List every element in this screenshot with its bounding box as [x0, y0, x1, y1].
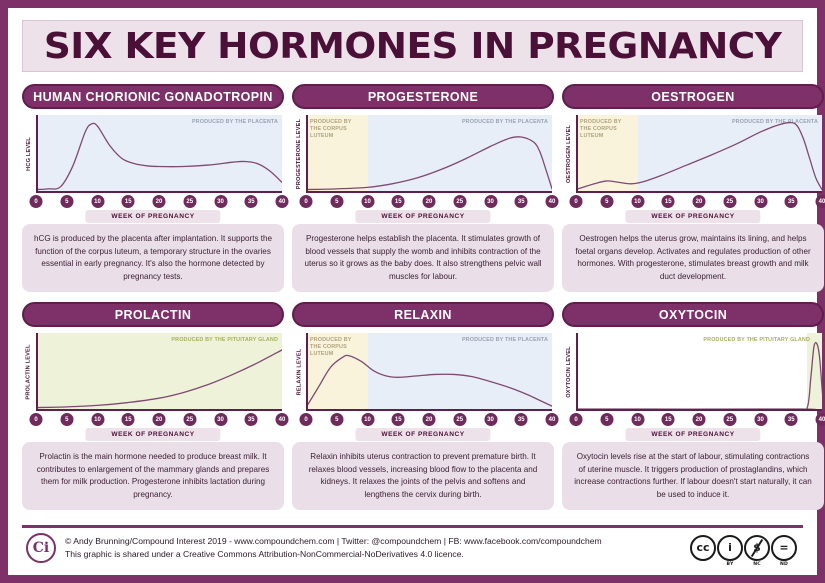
plot-area: PRODUCED BY THE CORPUS LUTEUMPRODUCED BY… [306, 115, 552, 193]
description-text: Prolactin is the main hormone needed to … [33, 451, 273, 501]
x-tick-5: 5 [60, 413, 73, 426]
footer-text: © Andy Brunning/Compound Interest 2019 -… [65, 535, 690, 560]
y-axis-label: OXYTOCIN LEVEL [563, 333, 575, 411]
x-tick-30: 30 [214, 413, 227, 426]
y-axis [306, 333, 308, 411]
cc-badge-nc-icon: $NC [744, 535, 770, 561]
y-axis [576, 333, 578, 411]
y-axis-label: RELAXIN LEVEL [293, 333, 305, 411]
x-axis-ticks: 0510152025303540 [36, 195, 282, 208]
x-axis-label: WEEK OF PREGNANCY [625, 428, 760, 441]
panel-header: RELAXIN [292, 302, 554, 327]
x-tick-20: 20 [153, 195, 166, 208]
x-axis-label: WEEK OF PREGNANCY [625, 210, 760, 223]
slash-icon [751, 538, 763, 556]
y-axis-label: HCG LEVEL [23, 115, 35, 193]
x-tick-30: 30 [754, 413, 767, 426]
x-tick-20: 20 [693, 413, 706, 426]
x-tick-20: 20 [423, 195, 436, 208]
x-axis-label: WEEK OF PREGNANCY [85, 210, 220, 223]
cc-badge-sublabel: NC [753, 562, 761, 567]
plot-area: PRODUCED BY THE PITUITARY GLAND [36, 333, 282, 411]
panel-title: PROLACTIN [115, 308, 192, 322]
x-tick-15: 15 [662, 413, 675, 426]
x-tick-25: 25 [183, 413, 196, 426]
x-axis [306, 409, 552, 411]
x-tick-0: 0 [30, 195, 43, 208]
x-tick-10: 10 [631, 413, 644, 426]
chart: OXYTOCIN LEVELPRODUCED BY THE PITUITARY … [562, 333, 824, 436]
x-tick-15: 15 [392, 195, 405, 208]
chart: PROGESTERONE LEVELPRODUCED BY THE CORPUS… [292, 115, 554, 218]
panel-title: RELAXIN [394, 308, 452, 322]
panel-header: PROLACTIN [22, 302, 284, 327]
x-tick-20: 20 [693, 195, 706, 208]
creative-commons-icons: cciBY$NC=ND [690, 535, 797, 561]
x-axis-ticks: 0510152025303540 [576, 413, 822, 426]
cc-badge-cc-icon: cc [690, 535, 716, 561]
x-tick-15: 15 [392, 413, 405, 426]
x-tick-5: 5 [330, 195, 343, 208]
cc-badge-sublabel: BY [727, 562, 734, 567]
x-axis-label: WEEK OF PREGNANCY [85, 428, 220, 441]
x-tick-40: 40 [276, 195, 289, 208]
x-tick-10: 10 [361, 195, 374, 208]
data-line [306, 333, 552, 411]
plot-area: PRODUCED BY THE PLACENTA [36, 115, 282, 193]
x-tick-20: 20 [423, 413, 436, 426]
x-tick-0: 0 [570, 413, 583, 426]
data-line [36, 115, 282, 193]
panel-description: Prolactin is the main hormone needed to … [22, 442, 284, 510]
plot-area: PRODUCED BY THE CORPUS LUTEUMPRODUCED BY… [576, 115, 822, 193]
page-title: SIX KEY HORMONES IN PREGNANCY [44, 26, 782, 67]
x-tick-10: 10 [361, 413, 374, 426]
x-tick-10: 10 [91, 413, 104, 426]
x-axis [306, 191, 552, 193]
chart: OESTROGEN LEVELPRODUCED BY THE CORPUS LU… [562, 115, 824, 218]
x-axis [576, 191, 822, 193]
x-tick-0: 0 [30, 413, 43, 426]
x-axis-ticks: 0510152025303540 [306, 195, 552, 208]
data-line [36, 333, 282, 411]
hormone-panel-oestrogen: OESTROGENOESTROGEN LEVELPRODUCED BY THE … [562, 84, 824, 292]
panel-description: Progesterone helps establish the placent… [292, 224, 554, 292]
panel-grid: HUMAN CHORIONIC GONADOTROPINHCG LEVELPRO… [22, 84, 823, 519]
x-tick-30: 30 [754, 195, 767, 208]
y-axis [576, 115, 578, 193]
x-tick-5: 5 [600, 195, 613, 208]
plot-area: PRODUCED BY THE PITUITARY GLAND [576, 333, 822, 411]
description-text: Oxytocin levels rise at the start of lab… [573, 451, 813, 501]
panel-description: Oxytocin levels rise at the start of lab… [562, 442, 824, 510]
x-tick-30: 30 [214, 195, 227, 208]
x-axis-ticks: 0510152025303540 [576, 195, 822, 208]
data-line [576, 115, 822, 193]
x-tick-10: 10 [631, 195, 644, 208]
x-tick-35: 35 [245, 413, 258, 426]
x-tick-35: 35 [515, 413, 528, 426]
panel-title: PROGESTERONE [368, 90, 478, 104]
x-axis [36, 191, 282, 193]
data-line [306, 115, 552, 193]
x-tick-15: 15 [122, 195, 135, 208]
plot-area: PRODUCED BY THE CORPUS LUTEUMPRODUCED BY… [306, 333, 552, 411]
x-tick-40: 40 [816, 195, 825, 208]
chart: PROLACTIN LEVELPRODUCED BY THE PITUITARY… [22, 333, 284, 436]
compound-interest-logo-icon: Ci [26, 533, 56, 563]
x-tick-5: 5 [60, 195, 73, 208]
panel-title: HUMAN CHORIONIC GONADOTROPIN [33, 90, 273, 104]
panel-header: OXYTOCIN [562, 302, 824, 327]
x-tick-25: 25 [453, 413, 466, 426]
panel-header: OESTROGEN [562, 84, 824, 109]
footer-line-1: © Andy Brunning/Compound Interest 2019 -… [65, 535, 690, 548]
x-tick-15: 15 [122, 413, 135, 426]
x-tick-40: 40 [546, 195, 559, 208]
cc-badge-by-icon: iBY [717, 535, 743, 561]
x-axis-ticks: 0510152025303540 [306, 413, 552, 426]
chart: HCG LEVELPRODUCED BY THE PLACENTA0510152… [22, 115, 284, 218]
x-tick-40: 40 [276, 413, 289, 426]
x-tick-0: 0 [570, 195, 583, 208]
x-axis-ticks: 0510152025303540 [36, 413, 282, 426]
hormone-panel-oxytocin: OXYTOCINOXYTOCIN LEVELPRODUCED BY THE PI… [562, 302, 824, 510]
x-tick-40: 40 [546, 413, 559, 426]
x-tick-35: 35 [785, 195, 798, 208]
x-tick-30: 30 [484, 195, 497, 208]
y-axis [306, 115, 308, 193]
x-tick-30: 30 [484, 413, 497, 426]
cc-badge-sublabel: ND [780, 562, 788, 567]
x-tick-25: 25 [453, 195, 466, 208]
poster-root: SIX KEY HORMONES IN PREGNANCY HUMAN CHOR… [8, 8, 817, 575]
x-axis-label: WEEK OF PREGNANCY [355, 428, 490, 441]
hormone-panel-human-chorionic-gonadotropin: HUMAN CHORIONIC GONADOTROPINHCG LEVELPRO… [22, 84, 284, 292]
x-tick-35: 35 [785, 413, 798, 426]
footer: Ci © Andy Brunning/Compound Interest 201… [22, 525, 803, 567]
panel-description: hCG is produced by the placenta after im… [22, 224, 284, 292]
description-text: Oestrogen helps the uterus grow, maintai… [573, 233, 813, 283]
panel-description: Relaxin inhibits uterus contraction to p… [292, 442, 554, 510]
x-axis [36, 409, 282, 411]
x-tick-20: 20 [153, 413, 166, 426]
x-tick-25: 25 [723, 195, 736, 208]
x-tick-35: 35 [515, 195, 528, 208]
x-axis [576, 409, 822, 411]
y-axis [36, 333, 38, 411]
x-tick-0: 0 [300, 413, 313, 426]
hormone-panel-progesterone: PROGESTERONEPROGESTERONE LEVELPRODUCED B… [292, 84, 554, 292]
x-tick-0: 0 [300, 195, 313, 208]
x-tick-40: 40 [816, 413, 825, 426]
panel-header: HUMAN CHORIONIC GONADOTROPIN [22, 84, 284, 109]
poster-title-bar: SIX KEY HORMONES IN PREGNANCY [22, 20, 803, 72]
description-text: hCG is produced by the placenta after im… [33, 233, 273, 283]
x-tick-15: 15 [662, 195, 675, 208]
y-axis [36, 115, 38, 193]
x-axis-label: WEEK OF PREGNANCY [355, 210, 490, 223]
x-tick-5: 5 [600, 413, 613, 426]
footer-line-2: This graphic is shared under a Creative … [65, 548, 690, 561]
panel-description: Oestrogen helps the uterus grow, maintai… [562, 224, 824, 292]
x-tick-25: 25 [723, 413, 736, 426]
chart: RELAXIN LEVELPRODUCED BY THE CORPUS LUTE… [292, 333, 554, 436]
description-text: Progesterone helps establish the placent… [303, 233, 543, 283]
x-tick-25: 25 [183, 195, 196, 208]
cc-badge-nd-icon: =ND [771, 535, 797, 561]
y-axis-label: PROLACTIN LEVEL [23, 333, 35, 411]
description-text: Relaxin inhibits uterus contraction to p… [303, 451, 543, 501]
data-line [576, 333, 822, 411]
panel-title: OESTROGEN [651, 90, 734, 104]
x-tick-10: 10 [91, 195, 104, 208]
panel-header: PROGESTERONE [292, 84, 554, 109]
y-axis-label: PROGESTERONE LEVEL [293, 115, 305, 193]
x-tick-5: 5 [330, 413, 343, 426]
hormone-panel-prolactin: PROLACTINPROLACTIN LEVELPRODUCED BY THE … [22, 302, 284, 510]
x-tick-35: 35 [245, 195, 258, 208]
panel-title: OXYTOCIN [659, 308, 727, 322]
y-axis-label: OESTROGEN LEVEL [563, 115, 575, 193]
hormone-panel-relaxin: RELAXINRELAXIN LEVELPRODUCED BY THE CORP… [292, 302, 554, 510]
